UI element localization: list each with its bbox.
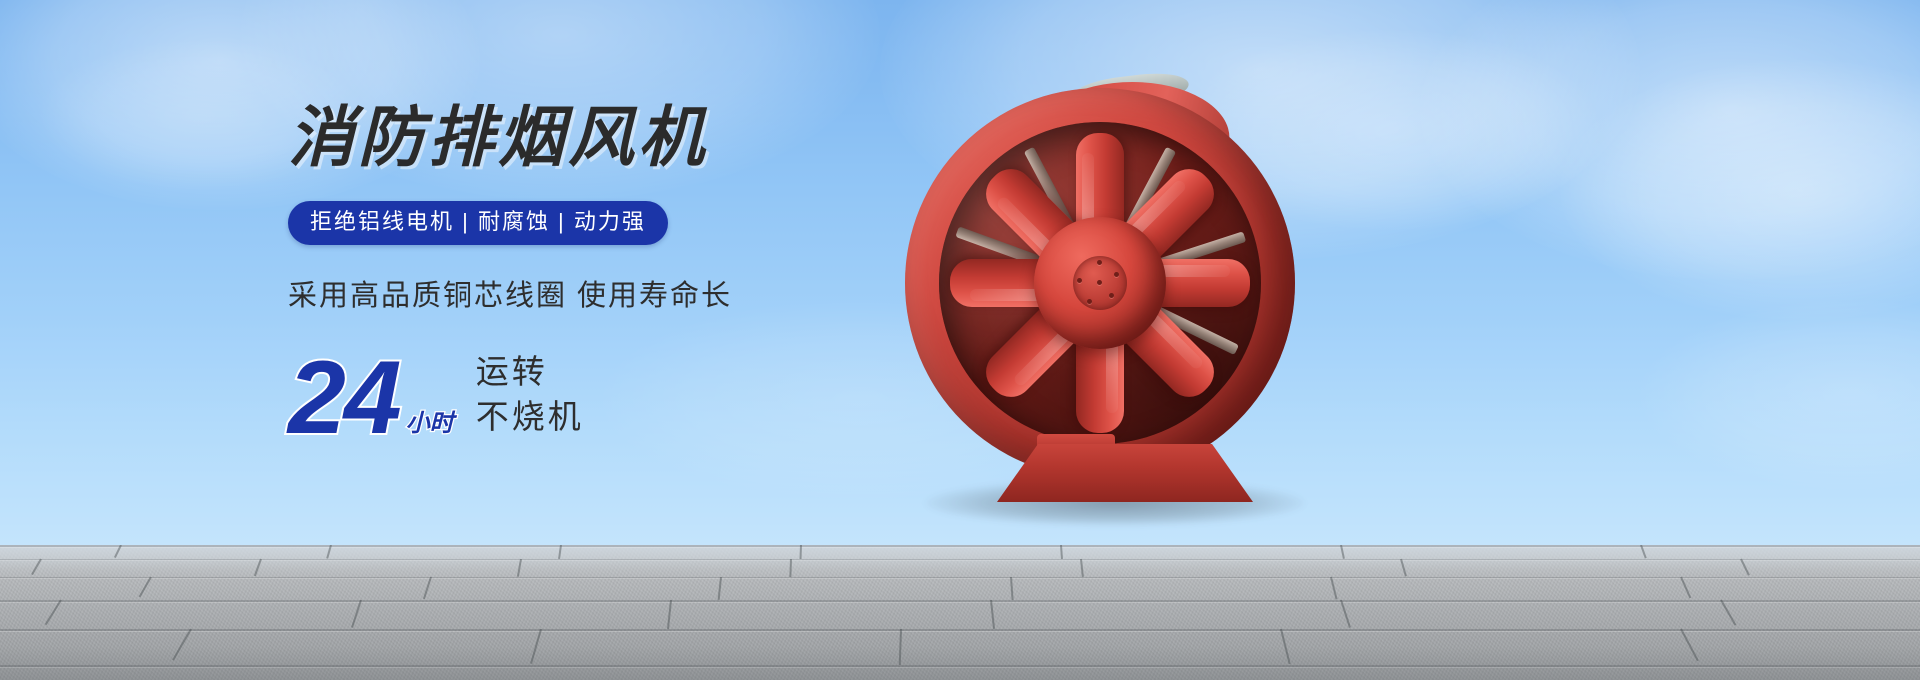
banner-copy: 消防排烟风机 拒绝铝线电机 | 耐腐蚀 | 动力强 采用高品质铜芯线圈 使用寿命… xyxy=(288,104,988,442)
cloud-shape xyxy=(1640,300,1920,490)
paving-joint-horizontal xyxy=(0,545,1920,547)
hero-banner: 消防排烟风机 拒绝铝线电机 | 耐腐蚀 | 动力强 采用高品质铜芯线圈 使用寿命… xyxy=(0,0,1920,680)
fan-inner-shroud xyxy=(939,122,1261,444)
hours-number: 24 xyxy=(288,355,400,442)
paving-joint-horizontal xyxy=(0,559,1920,560)
fan-hub-plate xyxy=(1073,256,1127,310)
cloud-shape xyxy=(1420,0,1920,280)
hub-bolt xyxy=(1114,272,1119,277)
claim-line-1: 运转 xyxy=(476,350,584,395)
paving-joint-horizontal xyxy=(0,577,1920,578)
feature-badge: 拒绝铝线电机 | 耐腐蚀 | 动力强 xyxy=(288,201,668,245)
page-title: 消防排烟风机 xyxy=(288,104,988,170)
paving-joint-horizontal xyxy=(0,665,1920,667)
hours-figure: 24 小时 xyxy=(288,355,454,442)
fan-outer-ring xyxy=(905,88,1295,478)
hours-unit: 小时 xyxy=(406,412,454,436)
paving-ground xyxy=(0,545,1920,680)
hub-bolt xyxy=(1097,260,1102,265)
claim-block: 24 小时 运转 不烧机 xyxy=(288,350,988,442)
subtitle: 采用高品质铜芯线圈 使用寿命长 xyxy=(288,272,988,314)
hub-bolt xyxy=(1109,293,1114,298)
hub-bolt-center xyxy=(1097,280,1102,285)
paving-joint-horizontal xyxy=(0,629,1920,631)
claim-line-2: 不烧机 xyxy=(476,395,584,440)
fan-base-pedestal xyxy=(997,444,1253,502)
cloud-shape xyxy=(1560,60,1920,320)
fan-hub xyxy=(1034,217,1166,349)
hub-bolt xyxy=(1087,299,1092,304)
paving-joint-horizontal xyxy=(0,600,1920,602)
product-image-axial-fan xyxy=(905,62,1325,522)
ground-horizon-haze xyxy=(0,545,1920,579)
claim-text: 运转 不烧机 xyxy=(476,350,584,440)
hub-bolt xyxy=(1077,278,1082,283)
